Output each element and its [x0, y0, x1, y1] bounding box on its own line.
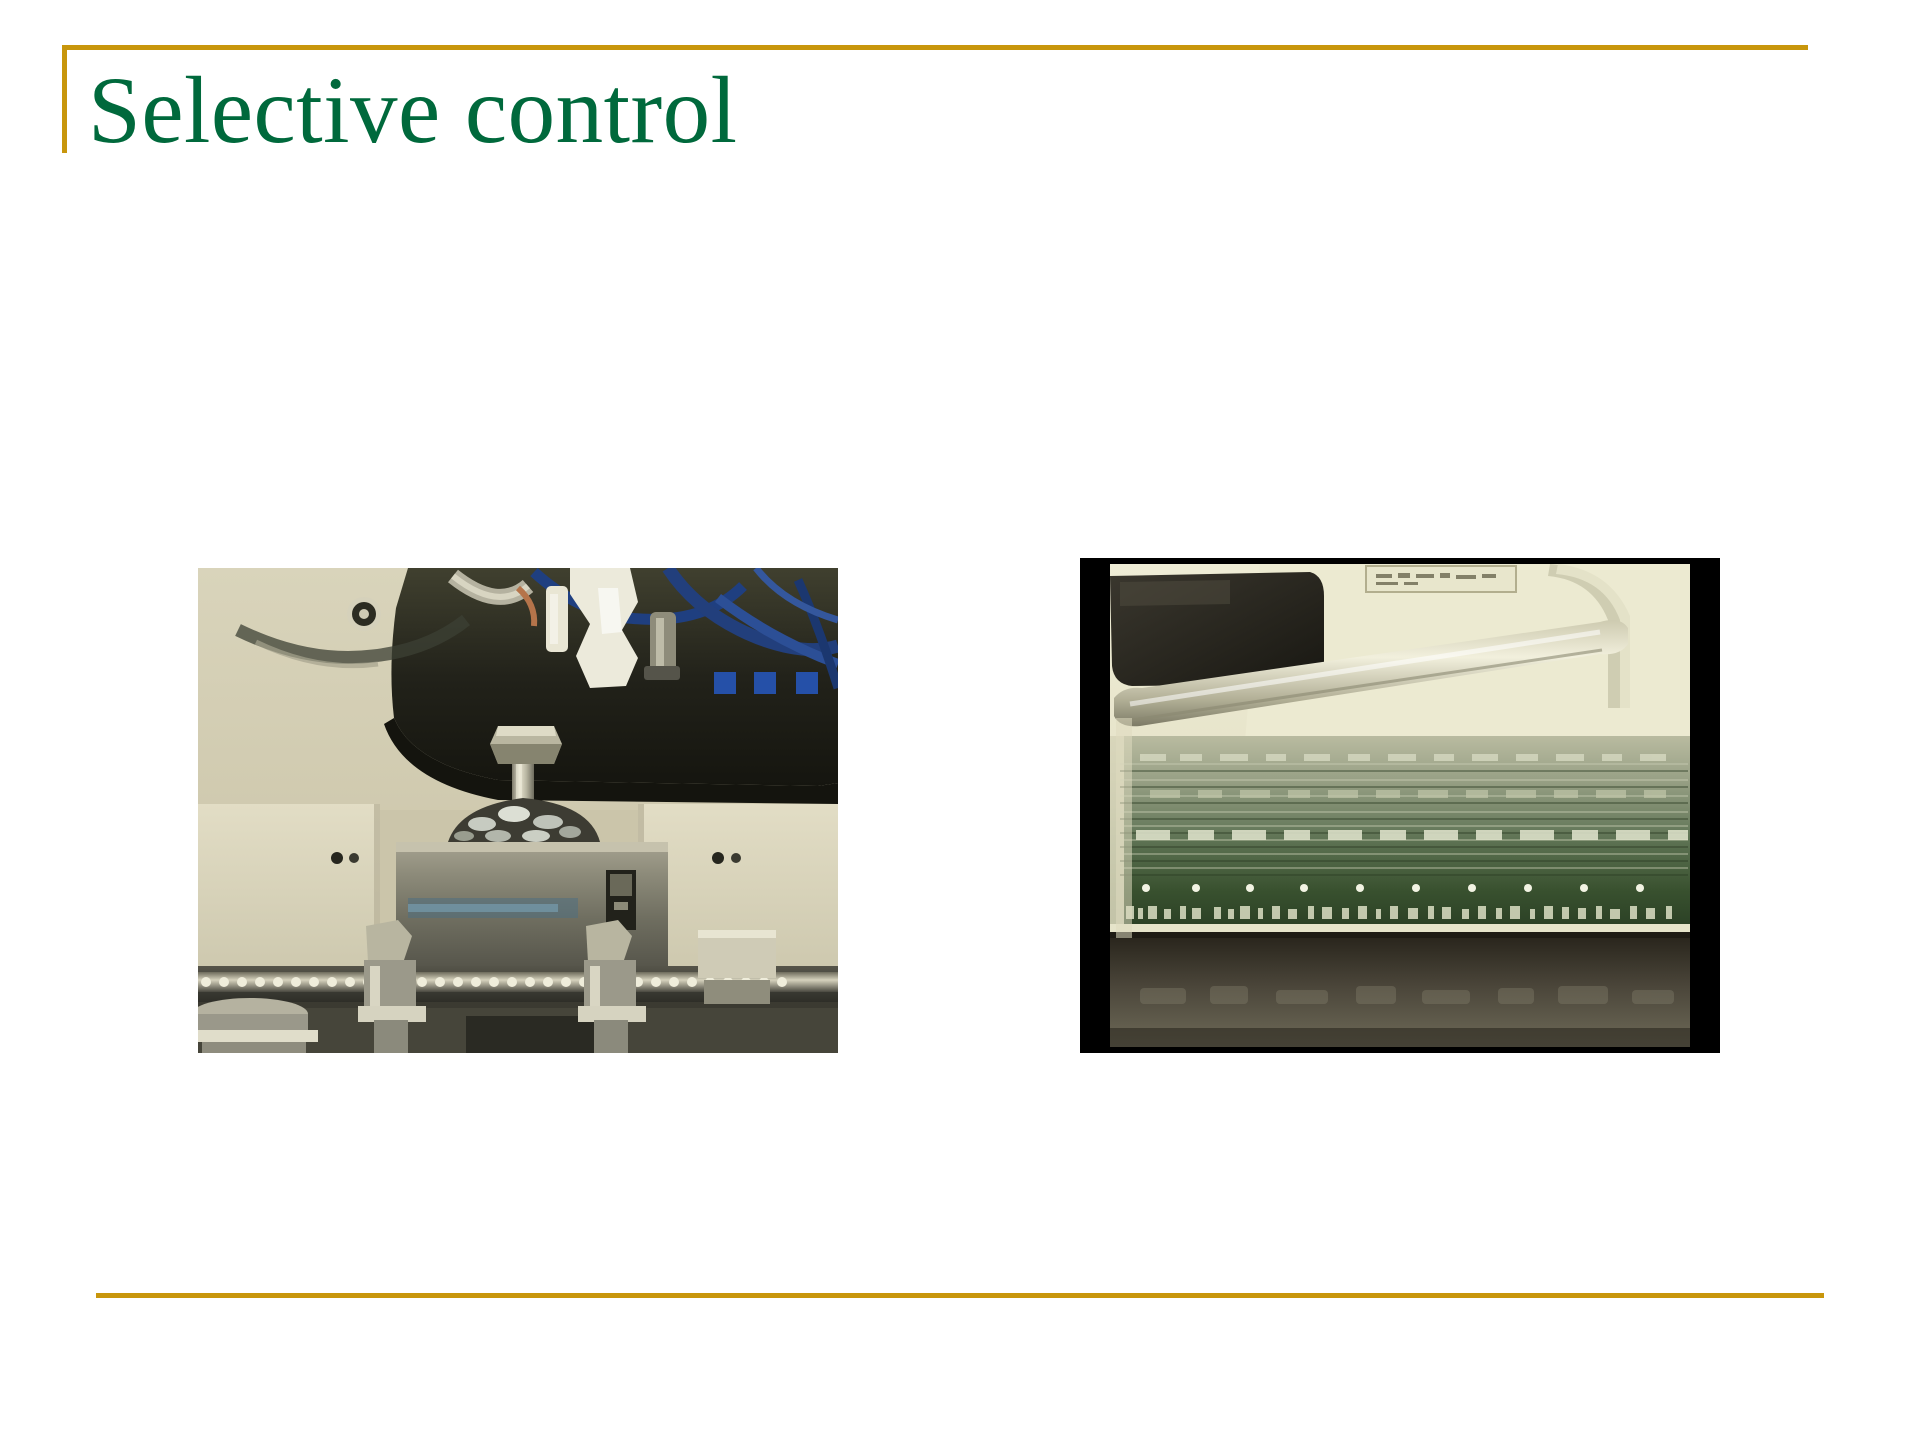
top-gold-rule — [62, 45, 1808, 50]
page-title: Selective control — [88, 58, 738, 163]
bottom-gold-rule — [96, 1293, 1824, 1298]
right-photo — [1080, 558, 1720, 1053]
right-photo-graphic — [1080, 558, 1720, 1053]
left-photo — [198, 568, 838, 1053]
slide-canvas: Selective control — [0, 0, 1920, 1440]
left-gold-rule — [62, 45, 67, 153]
left-photo-graphic — [198, 568, 838, 1053]
